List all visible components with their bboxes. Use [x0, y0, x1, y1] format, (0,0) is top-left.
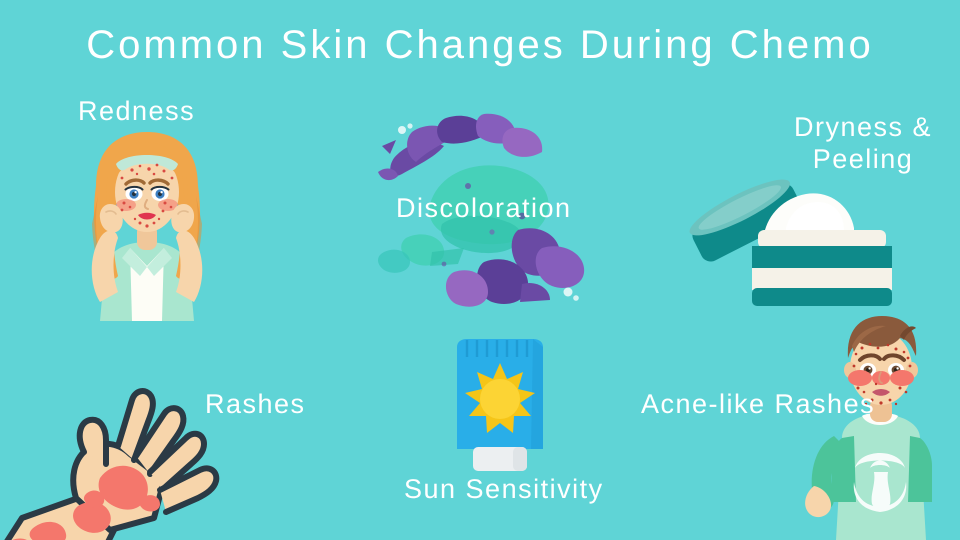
label-rashes: Rashes — [205, 389, 306, 421]
boy-with-acne-illustration — [800, 306, 960, 540]
label-acne-like-rashes: Acne-like Rashes — [641, 389, 875, 421]
infographic-canvas: Common Skin Changes During Chemo — [0, 0, 960, 540]
moisturizer-jar-illustration — [686, 168, 906, 308]
label-dryness-peeling: Dryness & Peeling — [788, 112, 938, 176]
sunscreen-tube-illustration — [443, 337, 557, 472]
label-dryness-line2: Peeling — [813, 144, 914, 174]
label-sun-sensitivity: Sun Sensitivity — [404, 474, 604, 506]
label-redness: Redness — [78, 96, 195, 128]
woman-with-facial-redness-illustration — [52, 126, 242, 321]
page-title: Common Skin Changes During Chemo — [0, 22, 960, 69]
label-dryness-line1: Dryness & — [794, 112, 932, 142]
label-discoloration: Discoloration — [396, 193, 572, 225]
